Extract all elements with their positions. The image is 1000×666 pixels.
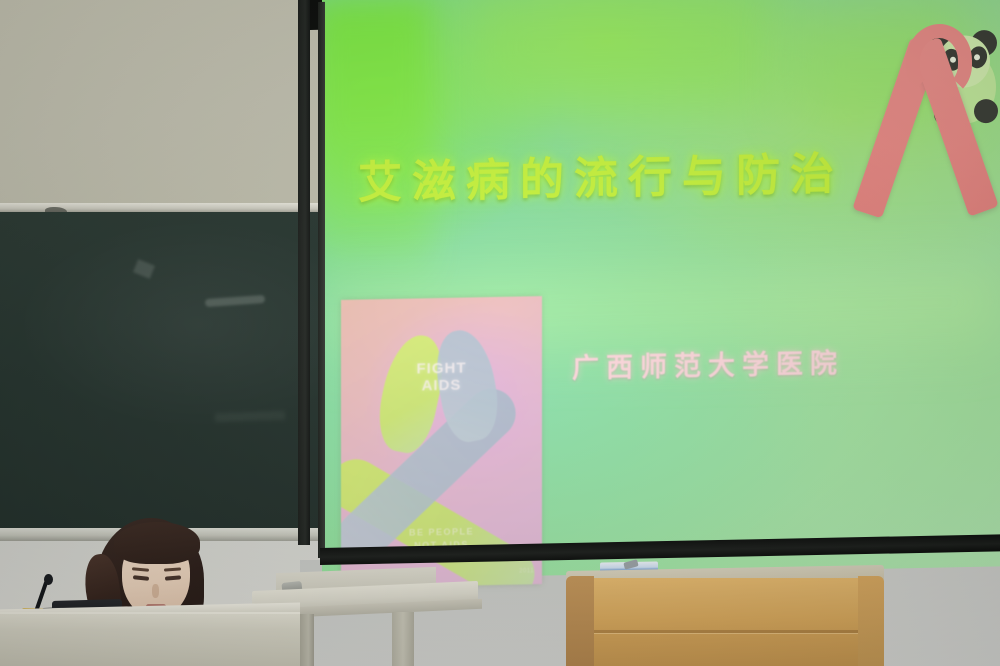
lectern-right-post (858, 576, 884, 666)
lectern-left-post (566, 576, 594, 666)
nose (152, 584, 159, 598)
beige-desk (0, 612, 300, 666)
projector-glow-center (472, 0, 772, 107)
chalk-mark (133, 259, 155, 279)
microphone-head (44, 574, 53, 585)
slide-organization: 广西师范大学医院 (572, 341, 844, 385)
green-chalkboard (0, 212, 330, 532)
chalk-mark (205, 295, 265, 307)
lecture-hall-photo: 艾滋病的流行与防治 广西师范大学医院 FIGHTAIDS BE PEOPLENO… (0, 0, 1000, 666)
poster-signature: 2011 (519, 568, 534, 574)
slide-title: 艾滋病的流行与防治 (358, 137, 844, 210)
mid-desk-leg (300, 614, 314, 666)
hair-fringe (114, 522, 200, 564)
screen-left-edge (318, 2, 325, 558)
aids-ribbon-icon (880, 17, 1000, 234)
chalkboard-right-frame (298, 0, 310, 545)
ribbon-loop (906, 23, 972, 98)
mid-desk-leg (392, 612, 414, 666)
wooden-lectern (566, 562, 884, 666)
lectern-trim-line (568, 630, 882, 633)
chalkboard-top-rail (0, 203, 330, 212)
lectern-front-panel (568, 578, 882, 666)
poster-headline: FIGHTAIDS (341, 358, 542, 396)
upper-wall (0, 0, 330, 208)
chalk-mark (215, 411, 285, 422)
